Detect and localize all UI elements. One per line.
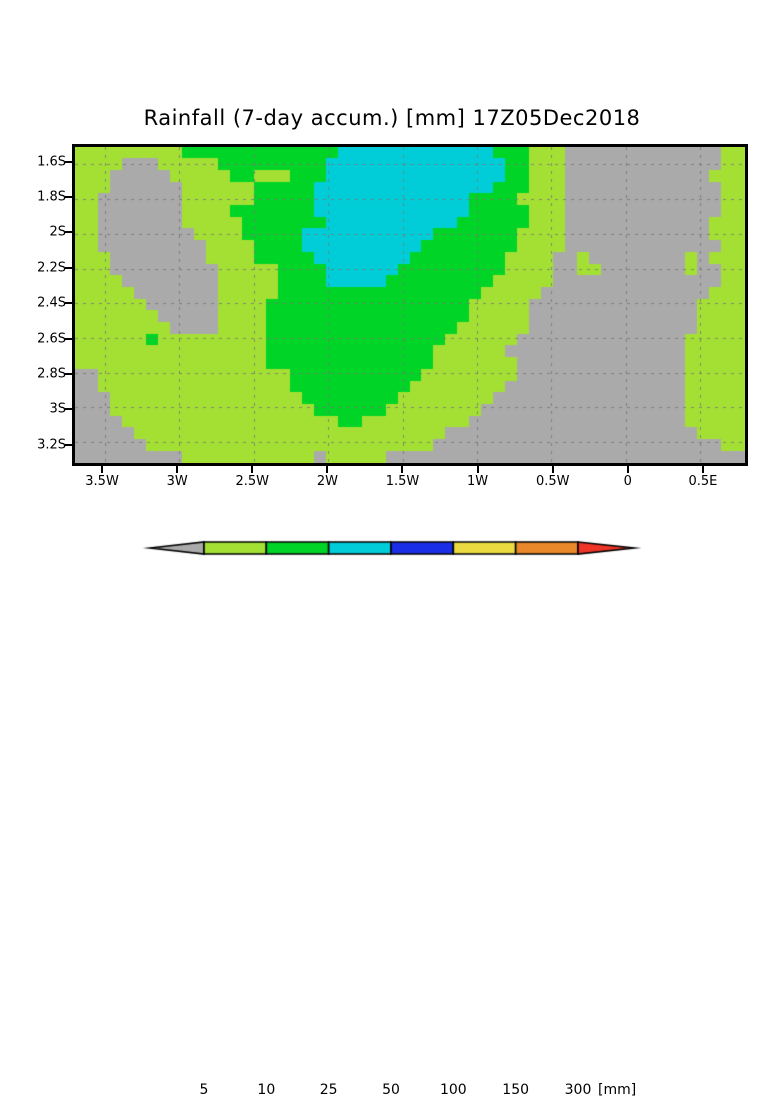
colorbar-level-label: 50 bbox=[382, 1082, 400, 1098]
colorbar-canvas bbox=[0, 528, 784, 588]
y-axis-tick-label: 2.6S bbox=[37, 331, 66, 346]
x-axis-tick-mark bbox=[552, 466, 554, 473]
y-axis-tick-mark bbox=[65, 444, 72, 446]
x-axis-tick-mark bbox=[477, 466, 479, 473]
x-axis-tick-label: 3.5W bbox=[85, 474, 119, 489]
colorbar-level-label: 300 bbox=[565, 1082, 592, 1098]
y-axis-tick-mark bbox=[65, 267, 72, 269]
colorbar-level-label: 10 bbox=[257, 1082, 275, 1098]
x-axis-tick-mark bbox=[176, 466, 178, 473]
y-axis-tick-label: 3S bbox=[49, 402, 66, 417]
y-axis-tick-mark bbox=[65, 338, 72, 340]
x-axis-tick-mark bbox=[401, 466, 403, 473]
colorbar-level-label: 100 bbox=[440, 1082, 467, 1098]
rainfall-heatmap-canvas bbox=[75, 147, 745, 463]
y-axis-tick-label: 2.2S bbox=[37, 260, 66, 275]
x-axis-tick-label: 3W bbox=[167, 474, 188, 489]
y-axis-tick-label: 2.8S bbox=[37, 367, 66, 382]
y-axis-tick-mark bbox=[65, 161, 72, 163]
y-axis-tick-label: 1.8S bbox=[37, 190, 66, 205]
y-axis-tick-label: 2.4S bbox=[37, 296, 66, 311]
x-axis-tick-mark bbox=[101, 466, 103, 473]
chart-title: Rainfall (7-day accum.) [mm] 17Z05Dec201… bbox=[0, 106, 784, 130]
x-axis-tick-mark bbox=[702, 466, 704, 473]
y-axis-tick-label: 1.6S bbox=[37, 154, 66, 169]
x-axis-tick-label: 2W bbox=[317, 474, 338, 489]
x-axis-tick-label: 0.5E bbox=[688, 474, 717, 489]
x-axis-tick-mark bbox=[326, 466, 328, 473]
y-axis-tick-label: 3.2S bbox=[37, 437, 66, 452]
y-axis-tick-mark bbox=[65, 302, 72, 304]
figure-root: Rainfall (7-day accum.) [mm] 17Z05Dec201… bbox=[0, 0, 784, 612]
x-axis-tick-mark bbox=[627, 466, 629, 473]
colorbar-units-label: [mm] bbox=[598, 1082, 636, 1098]
y-axis-tick-mark bbox=[65, 408, 72, 410]
x-axis-tick-label: 1.5W bbox=[386, 474, 420, 489]
x-axis-tick-label: 1W bbox=[467, 474, 488, 489]
map-plot-area bbox=[72, 144, 748, 466]
colorbar: 5102550100150300 [mm] bbox=[0, 528, 784, 588]
x-axis-tick-label: 2.5W bbox=[236, 474, 270, 489]
x-axis-tick-label: 0 bbox=[624, 474, 632, 489]
x-axis-tick-mark bbox=[251, 466, 253, 473]
y-axis-tick-mark bbox=[65, 373, 72, 375]
y-axis-tick-label: 2S bbox=[49, 225, 66, 240]
colorbar-level-label: 5 bbox=[200, 1082, 209, 1098]
colorbar-level-label: 150 bbox=[502, 1082, 529, 1098]
x-axis-tick-label: 0.5W bbox=[536, 474, 570, 489]
y-axis-tick-mark bbox=[65, 231, 72, 233]
colorbar-level-label: 25 bbox=[320, 1082, 338, 1098]
y-axis-tick-mark bbox=[65, 196, 72, 198]
